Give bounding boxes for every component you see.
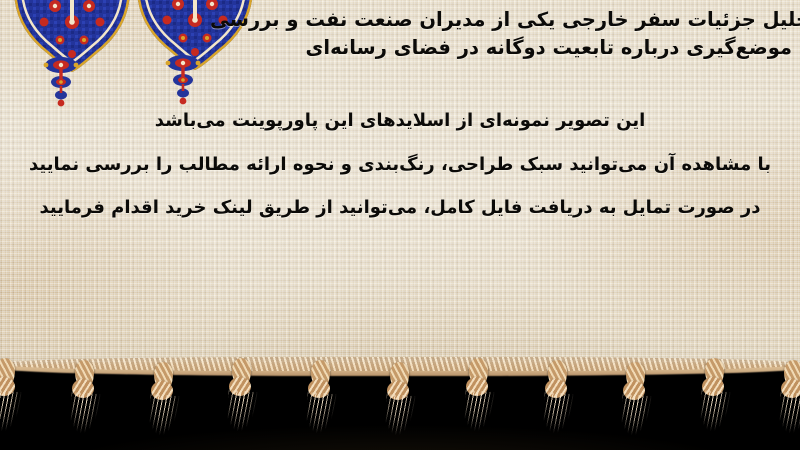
title-line-1: حلیل جزئیات سفر خارجی یکی از مدیران صنعت… [80, 6, 800, 34]
body-line-3: در صورت تمایل به دریافت فایل کامل، می‌تو… [10, 199, 790, 217]
body-line-1: این تصویر نمونه‌ای از اسلایدهای این پاور… [10, 112, 790, 130]
body-line-2: با مشاهده آن می‌توانید سبک طراحی، رنگ‌بن… [10, 156, 790, 174]
slide-title: حلیل جزئیات سفر خارجی یکی از مدیران صنعت… [80, 6, 792, 61]
black-lower-band [0, 366, 800, 450]
slide-body-text: این تصویر نمونه‌ای از اسلایدهای این پاور… [10, 112, 790, 217]
presentation-slide: حلیل جزئیات سفر خارجی یکی از مدیران صنعت… [0, 0, 800, 450]
persian-pendant-drop-left [36, 55, 86, 109]
title-line-2: موضع‌گیری درباره تابعیت دوگانه در فضای ر… [80, 34, 792, 62]
